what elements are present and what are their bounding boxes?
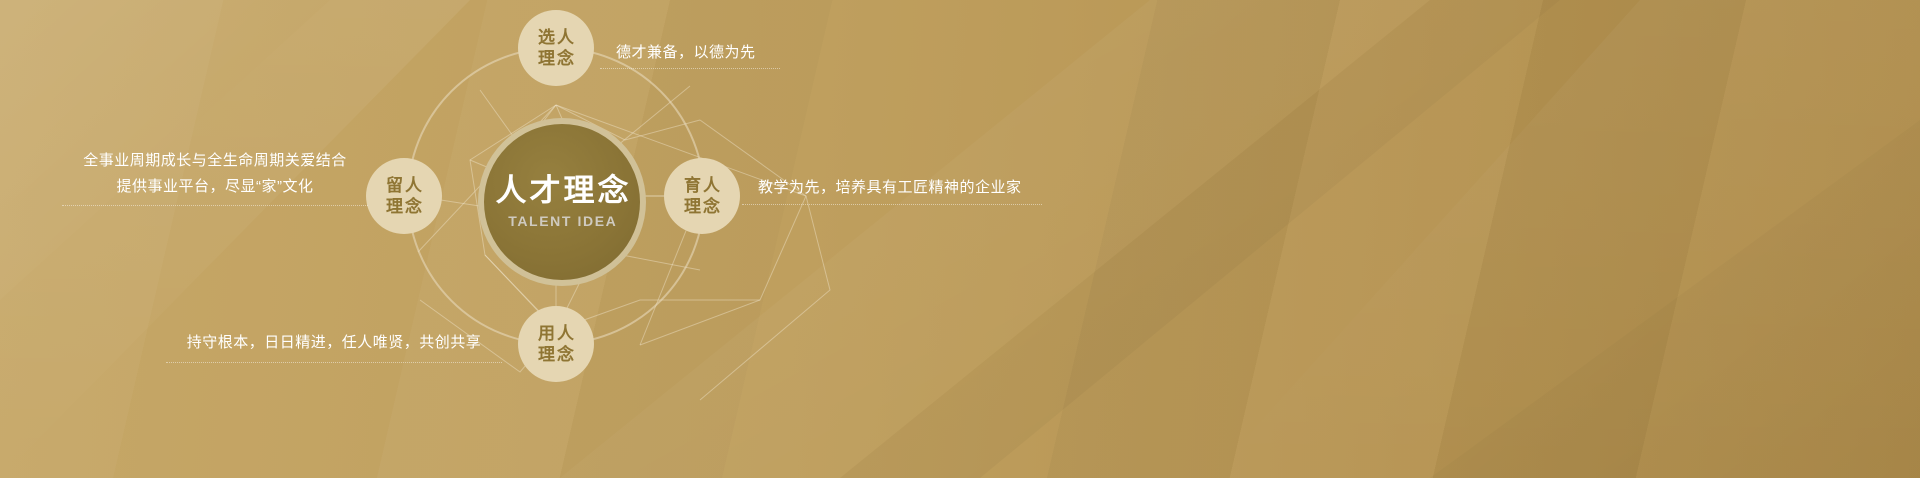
node-cultivate-talent-line1: 育人	[682, 175, 722, 196]
label-retain-talent-line1: 全事业周期成长与全生命周期关爱结合	[70, 148, 360, 174]
label-retain-talent-line2: 提供事业平台，尽显“家”文化	[70, 174, 360, 200]
label-employ-talent-rule	[166, 362, 502, 363]
label-select-talent: 德才兼备，以德为先	[616, 40, 756, 66]
node-employ-talent-line1: 用人	[536, 323, 576, 344]
label-employ-talent-text: 持守根本，日日精进，任人唯贤，共创共享	[178, 330, 490, 356]
label-select-talent-rule	[600, 68, 780, 69]
node-employ-talent[interactable]: 用人 理念	[518, 306, 594, 382]
core-subtitle: TALENT IDEA	[507, 212, 618, 230]
node-retain-talent-line2: 理念	[384, 196, 424, 217]
talent-idea-banner: 人才理念 TALENT IDEA 选人 理念 育人 理念 用人 理念 留人 理念…	[0, 0, 1920, 478]
node-retain-talent-line1: 留人	[384, 175, 424, 196]
node-select-talent-line2: 理念	[536, 48, 576, 69]
core-title: 人才理念	[493, 174, 632, 208]
label-employ-talent: 持守根本，日日精进，任人唯贤，共创共享	[178, 330, 490, 356]
node-select-talent[interactable]: 选人 理念	[518, 10, 594, 86]
label-retain-talent: 全事业周期成长与全生命周期关爱结合 提供事业平台，尽显“家”文化	[70, 148, 360, 200]
node-select-talent-line1: 选人	[536, 27, 576, 48]
core-circle: 人才理念 TALENT IDEA	[478, 118, 646, 286]
label-cultivate-talent-text: 教学为先，培养具有工匠精神的企业家	[758, 175, 1022, 201]
node-employ-talent-line2: 理念	[536, 344, 576, 365]
node-retain-talent[interactable]: 留人 理念	[366, 158, 442, 234]
node-cultivate-talent-line2: 理念	[682, 196, 722, 217]
label-cultivate-talent: 教学为先，培养具有工匠精神的企业家	[758, 175, 1022, 201]
label-cultivate-talent-rule	[742, 204, 1042, 205]
node-cultivate-talent[interactable]: 育人 理念	[664, 158, 740, 234]
label-retain-talent-rule	[62, 205, 368, 206]
label-select-talent-text: 德才兼备，以德为先	[616, 40, 756, 66]
network-rings-and-links	[0, 0, 1920, 478]
